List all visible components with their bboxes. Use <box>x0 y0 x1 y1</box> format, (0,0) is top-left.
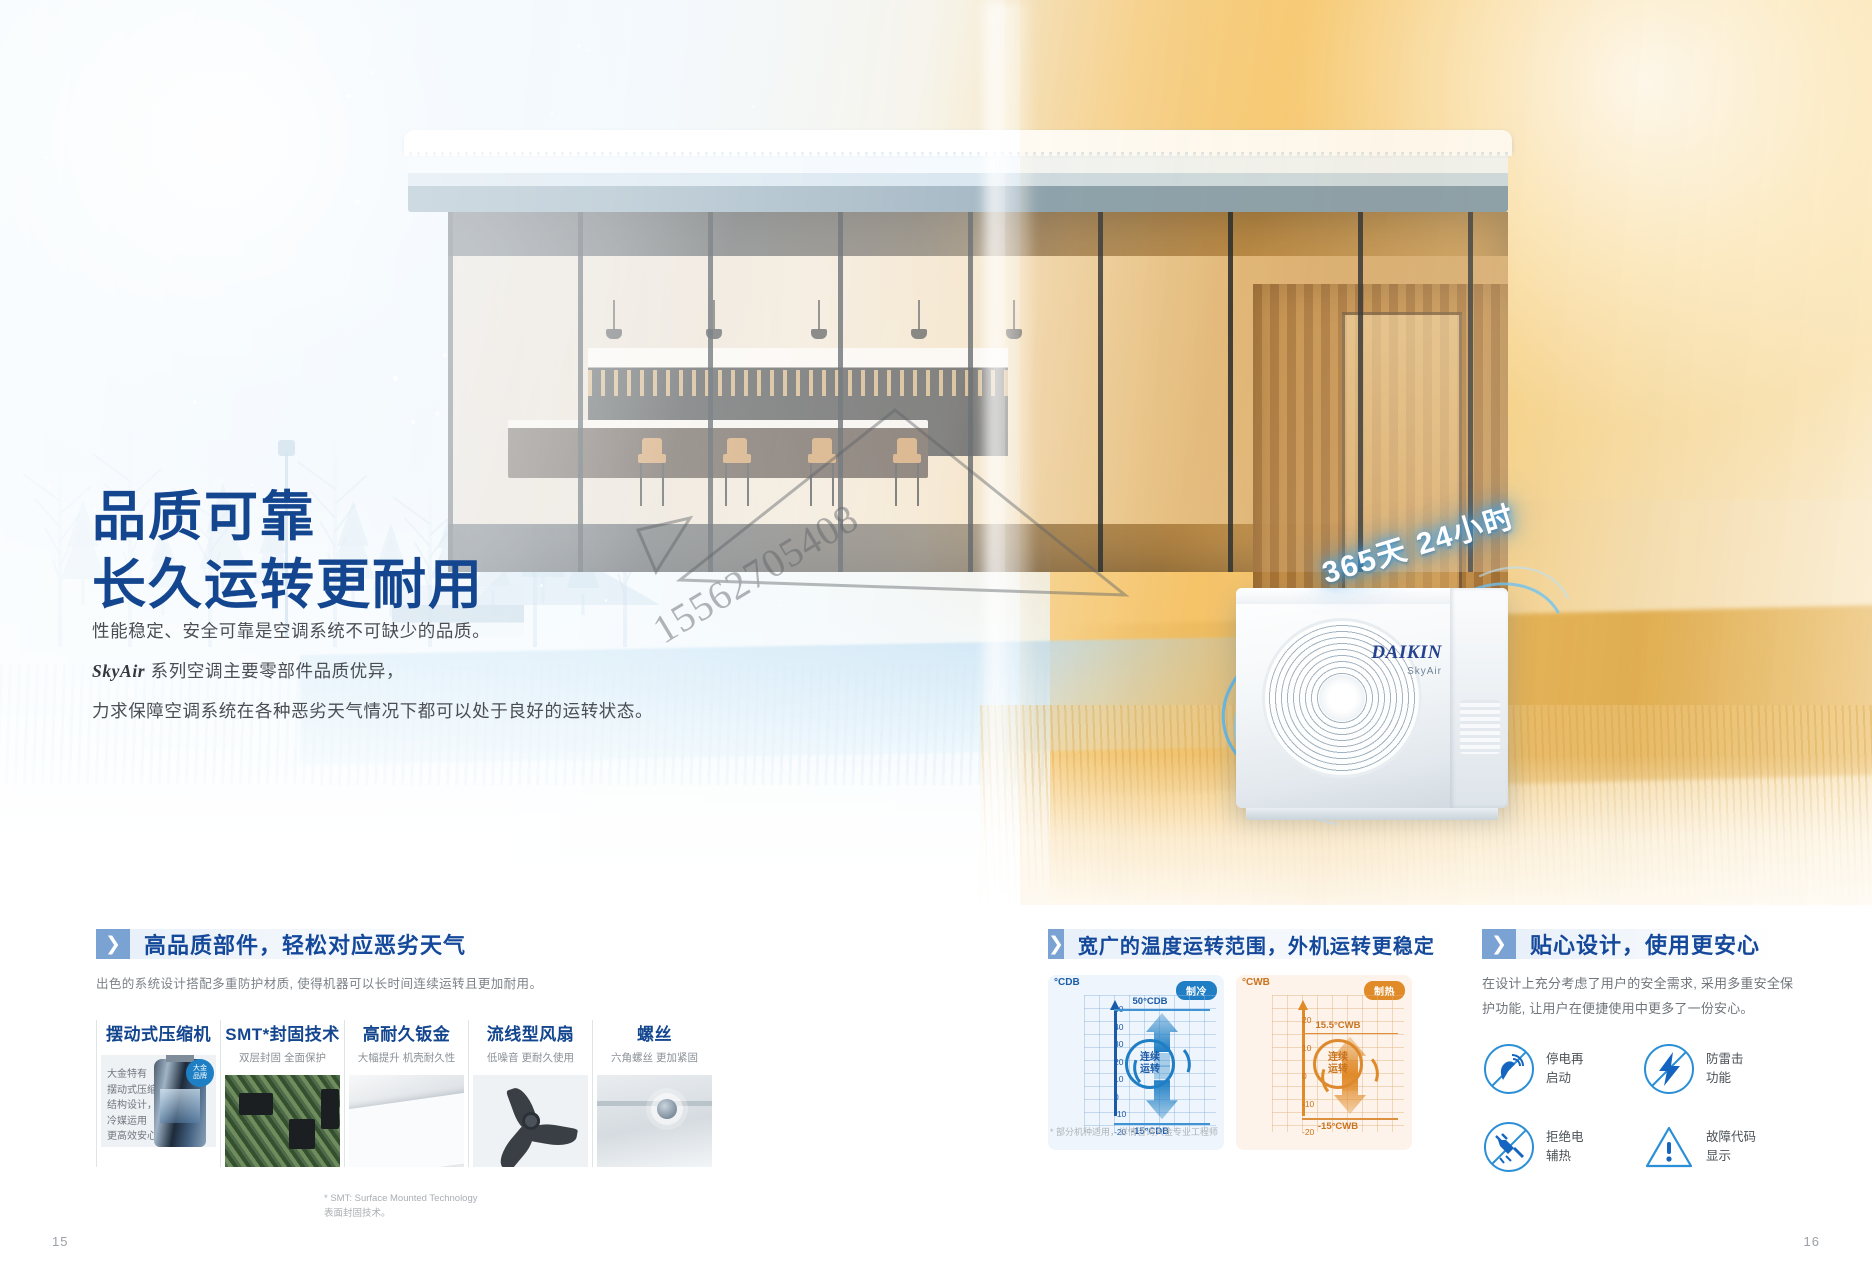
temperature-charts: °CDB 制冷 50403020100-10-20 50°CDB -15°CDB… <box>1048 975 1438 1150</box>
page-number-left: 15 <box>52 1234 68 1249</box>
chart-unit-label: °CDB <box>1054 977 1080 988</box>
label-line2: 辅热 <box>1546 1147 1584 1166</box>
pcb-icon <box>225 1075 340 1167</box>
heating-range-chart: °CWB 制热 20100-10-20 15.5°CWB -15°CWB 连续 <box>1236 975 1412 1150</box>
pcb-chip <box>289 1119 315 1149</box>
hero-banner: DAIKIN SkyAir 365天 24小时 品质可靠 长久运转更耐用 性能稳… <box>0 0 1872 905</box>
component-title: SMT*封固技术 <box>225 1020 340 1045</box>
hero-paragraph: 性能稳定、安全可靠是空调系统不可缺少的品质。 SkyAir 系列空调主要零部件品… <box>92 612 653 732</box>
hero-title-line1: 品质可靠 <box>92 484 484 552</box>
unit-side-panel <box>1450 588 1508 808</box>
chevron-right-icon: ❯ <box>96 929 130 959</box>
component-card: 高耐久钣金 大幅提升 机壳耐久性 <box>344 1020 468 1167</box>
cooling-range-chart: °CDB 制冷 50403020100-10-20 50°CDB -15°CDB… <box>1048 975 1224 1150</box>
left-section-header: ❯ 高品质部件，轻松对应恶劣天气 <box>96 929 716 959</box>
error-code-warning-icon <box>1642 1120 1696 1174</box>
unit-vent <box>1460 700 1500 754</box>
hero-para-line1: 性能稳定、安全可靠是空调系统不可缺少的品质。 <box>92 612 653 652</box>
daikin-brand-badge: 大金 品牌 <box>186 1059 214 1087</box>
hero-para-line2: SkyAir 系列空调主要零部件品质优异， <box>92 652 653 692</box>
page-title: 品质可靠 长久运转更耐用 <box>92 484 484 619</box>
no-electric-heater-icon <box>1482 1120 1536 1174</box>
circle-line1: 连续 <box>1140 1052 1160 1064</box>
lightning-protection-icon <box>1642 1042 1696 1096</box>
label-line2: 显示 <box>1706 1147 1756 1166</box>
safety-feature: 故障代码 显示 <box>1642 1120 1802 1174</box>
label-line2: 功能 <box>1706 1069 1744 1088</box>
smt-footnote: * SMT: Surface Mounted Technology 表面封固技术… <box>324 1191 478 1221</box>
pcb-chip <box>321 1089 339 1129</box>
right-section-header: ❯ 贴心设计，使用更安心 <box>1482 929 1802 959</box>
skyair-label: SkyAir <box>1407 666 1442 677</box>
safety-feature-label: 防雷击 功能 <box>1706 1050 1744 1088</box>
fan-hub <box>1319 675 1365 721</box>
page-number-right: 16 <box>1804 1234 1820 1249</box>
component-title: 螺丝 <box>597 1020 712 1045</box>
chart-footnote: * 部分机种适用，详情咨询大金专业工程师 <box>1050 1125 1218 1138</box>
brochure-page: DAIKIN SkyAir 365天 24小时 品质可靠 长久运转更耐用 性能稳… <box>0 0 1872 1271</box>
screw-icon <box>597 1075 712 1167</box>
label-line1: 停电再 <box>1546 1050 1584 1069</box>
fan-icon <box>473 1075 588 1167</box>
label-line2: 启动 <box>1546 1069 1584 1088</box>
fan-illustration <box>473 1075 588 1167</box>
fan-hub <box>522 1112 540 1130</box>
features-section: ❯ 高品质部件，轻松对应恶劣天气 出色的系统设计搭配多重防护材质, 使得机器可以… <box>0 905 1872 1271</box>
cooling-plot-area: 50403020100-10-20 50°CDB -15°CDB 连续 运转 <box>1084 995 1216 1132</box>
cold-overlay <box>0 0 1005 905</box>
safety-feature-label: 拒绝电 辅热 <box>1546 1128 1584 1166</box>
component-subtitle: 六角螺丝 更加紧固 <box>597 1050 712 1065</box>
component-card: SMT*封固技术 双层封固 全面保护 <box>220 1020 344 1167</box>
left-section-subtitle: 出色的系统设计搭配多重防护材质, 使得机器可以长时间连续运转且更加耐用。 <box>96 973 716 992</box>
circle-line1: 连续 <box>1328 1052 1348 1064</box>
component-card: 螺丝 六角螺丝 更加紧固 <box>592 1020 716 1167</box>
safety-design-block: ❯ 贴心设计，使用更安心 在设计上充分考虑了用户的安全需求, 采用多重安全保护功… <box>1482 929 1802 1198</box>
hex-screw <box>657 1099 677 1119</box>
component-title: 流线型风扇 <box>473 1020 588 1045</box>
component-list: 摆动式压缩机 大金特有 摆动式压缩机 结构设计， 冷媒运用 更高效安心 大金 品… <box>96 1020 716 1167</box>
hero-para-line2-rest: 系列空调主要零部件品质优异， <box>145 661 404 681</box>
heating-plot-area: 20100-10-20 15.5°CWB -15°CWB 连续 运转 <box>1272 995 1404 1132</box>
chevron-right-icon: ❯ <box>1048 929 1064 959</box>
daikin-logo: DAIKIN <box>1371 642 1442 664</box>
label-line1: 拒绝电 <box>1546 1128 1584 1147</box>
mid-section-header: ❯ 宽广的温度运转范围，外机运转更稳定 <box>1048 929 1438 959</box>
safety-feature: 防雷击 功能 <box>1642 1042 1802 1096</box>
label-line1: 防雷击 <box>1706 1050 1744 1069</box>
left-section-title: 高品质部件，轻松对应恶劣天气 <box>130 929 478 959</box>
hero-title-line2: 长久运转更耐用 <box>92 552 484 620</box>
pcb-chip <box>239 1093 273 1115</box>
high-quality-parts-block: ❯ 高品质部件，轻松对应恶劣天气 出色的系统设计搭配多重防护材质, 使得机器可以… <box>96 929 716 1167</box>
safety-feature: 拒绝电 辅热 <box>1482 1120 1642 1174</box>
unit-base <box>1246 808 1498 820</box>
component-title: 摆动式压缩机 <box>101 1020 216 1045</box>
safety-feature-label: 故障代码 显示 <box>1706 1128 1756 1166</box>
safety-feature-label: 停电再 启动 <box>1546 1050 1584 1088</box>
component-subtitle: 大幅提升 机壳耐久性 <box>349 1050 464 1065</box>
circle-line2: 运转 <box>1328 1064 1348 1076</box>
chevron-right-icon: ❯ <box>1482 929 1516 959</box>
temperature-range-block: ❯ 宽广的温度运转范围，外机运转更稳定 °CDB 制冷 50403020100-… <box>1048 929 1438 1150</box>
continuous-operation-circle: 连续 运转 <box>1313 1039 1363 1089</box>
fan-blade <box>493 1125 538 1167</box>
component-title: 高耐久钣金 <box>349 1020 464 1045</box>
skyair-wordmark: SkyAir <box>92 661 145 681</box>
hero-para-line3: 力求保障空调系统在各种恶劣天气情况下都可以处于良好的运转状态。 <box>92 692 653 732</box>
component-card: 摆动式压缩机 大金特有 摆动式压缩机 结构设计， 冷媒运用 更高效安心 大金 品… <box>96 1020 220 1167</box>
circle-line2: 运转 <box>1140 1064 1160 1076</box>
component-card: 流线型风扇 低噪音 更耐久使用 <box>468 1020 592 1167</box>
power-restart-icon <box>1482 1042 1536 1096</box>
panel-surface <box>597 1075 712 1167</box>
sheet-metal-illustration <box>349 1075 464 1167</box>
sheet-metal-icon <box>349 1075 464 1167</box>
continuous-operation-circle: 连续 运转 <box>1125 1039 1175 1089</box>
mid-section-title: 宽广的温度运转范围，外机运转更稳定 <box>1064 929 1447 959</box>
component-subtitle: 双层封固 全面保护 <box>225 1050 340 1065</box>
chart-unit-label: °CWB <box>1242 977 1270 988</box>
compressor-icon: 大金特有 摆动式压缩机 结构设计， 冷媒运用 更高效安心 大金 品牌 <box>101 1055 216 1147</box>
outdoor-unit: DAIKIN SkyAir <box>1236 588 1508 808</box>
label-line1: 故障代码 <box>1706 1128 1756 1147</box>
safety-feature: 停电再 启动 <box>1482 1042 1642 1096</box>
safety-paragraph: 在设计上充分考虑了用户的安全需求, 采用多重安全保护功能, 让用户在便捷使用中更… <box>1482 971 1802 1022</box>
right-section-title: 贴心设计，使用更安心 <box>1516 929 1772 959</box>
safety-feature-grid: 停电再 启动 防雷击 功能 <box>1482 1042 1802 1198</box>
component-subtitle: 低噪音 更耐久使用 <box>473 1050 588 1065</box>
